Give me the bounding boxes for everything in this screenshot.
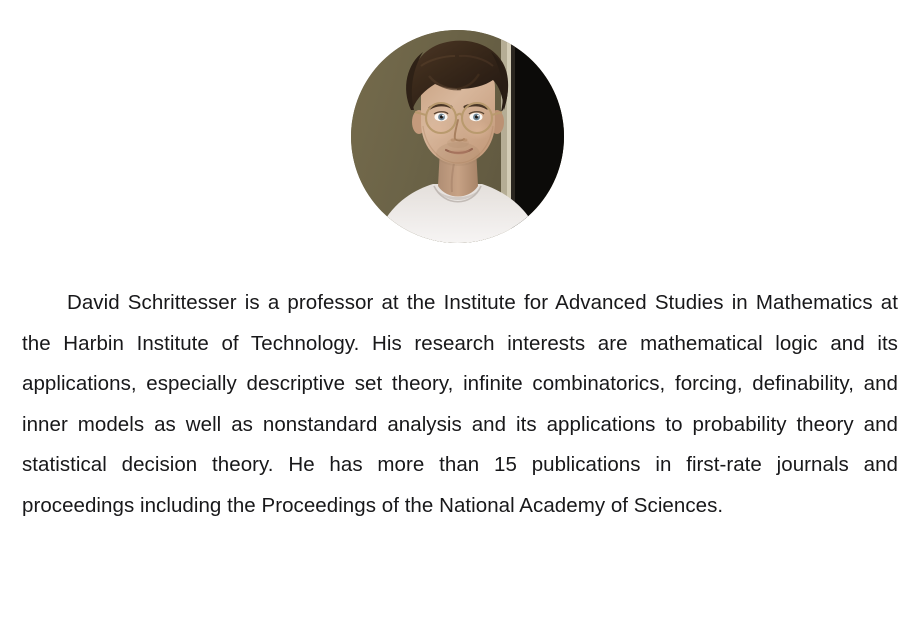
portrait-photo (351, 30, 564, 243)
portrait-illustration (351, 30, 564, 243)
portrait-container (351, 30, 564, 243)
bio-page: David Schrittesser is a professor at the… (0, 0, 919, 621)
biography-block: David Schrittesser is a professor at the… (22, 283, 898, 526)
biography-paragraph: David Schrittesser is a professor at the… (22, 283, 898, 526)
